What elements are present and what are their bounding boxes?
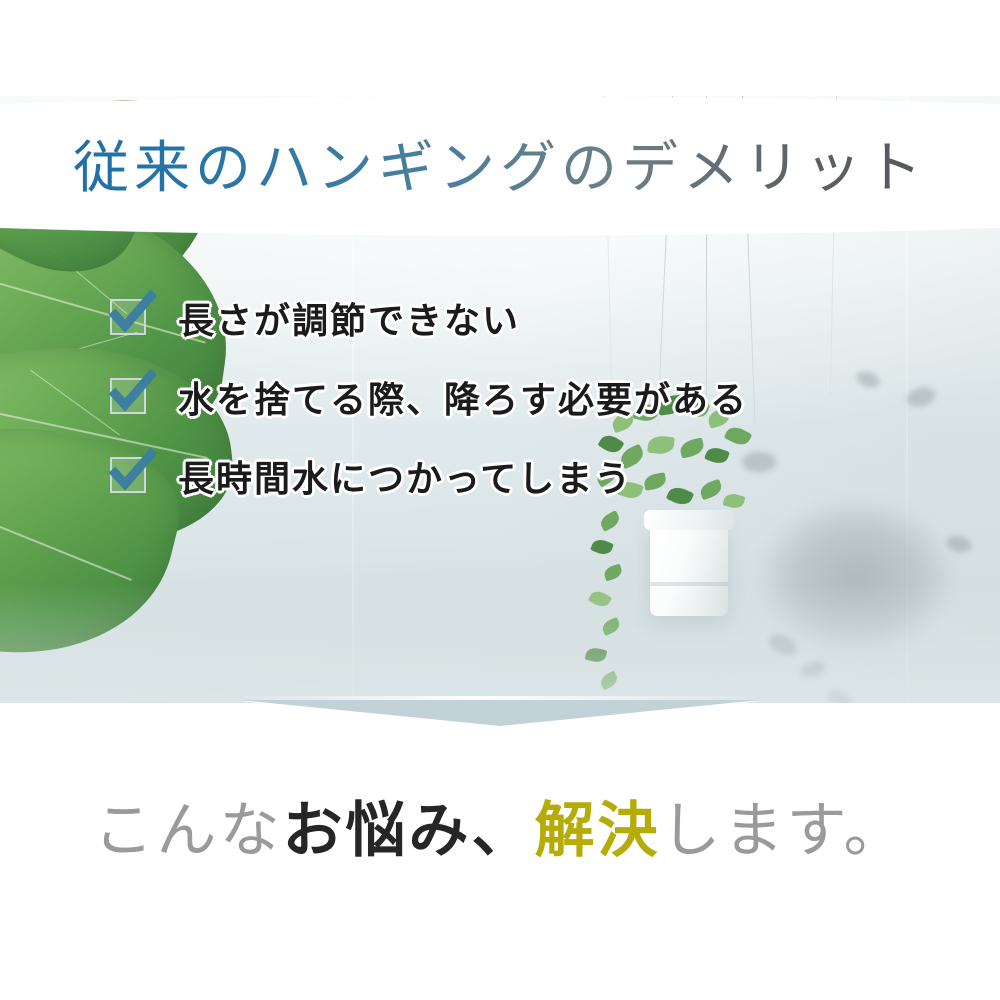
list-item: 長さが調節できない [108,292,748,344]
check-icon [108,454,152,498]
footer-tagline: こんなお悩み、解決します。 [0,782,1000,869]
footer-part-1: こんな [94,798,283,864]
down-arrow-icon [240,700,760,726]
check-icon [108,375,152,419]
page-title: 従来のハンギングのデメリット [0,139,1000,201]
check-icon [108,296,152,340]
demerit-checklist: 長さが調節できない 水を捨てる際、降ろす必要がある 長時間水につかってしまう [108,292,748,529]
list-item-label: 水を捨てる際、降ろす必要がある [178,371,748,423]
promo-banner: 従来のハンギングのデメリット 長さが調節できない 水を捨てる際、降ろす必要がある [0,0,1000,1000]
list-item-label: 長さが調節できない [178,292,520,344]
list-item: 水を捨てる際、降ろす必要がある [108,371,748,423]
footer-part-2: お悩み、 [283,798,535,864]
panel-bottom-fade [0,583,1000,703]
footer-part-3-highlight: 解決 [535,798,661,864]
list-item: 長時間水につかってしまう [108,450,748,502]
footer-part-4: します。 [661,798,907,864]
list-item-label: 長時間水につかってしまう [178,450,632,502]
